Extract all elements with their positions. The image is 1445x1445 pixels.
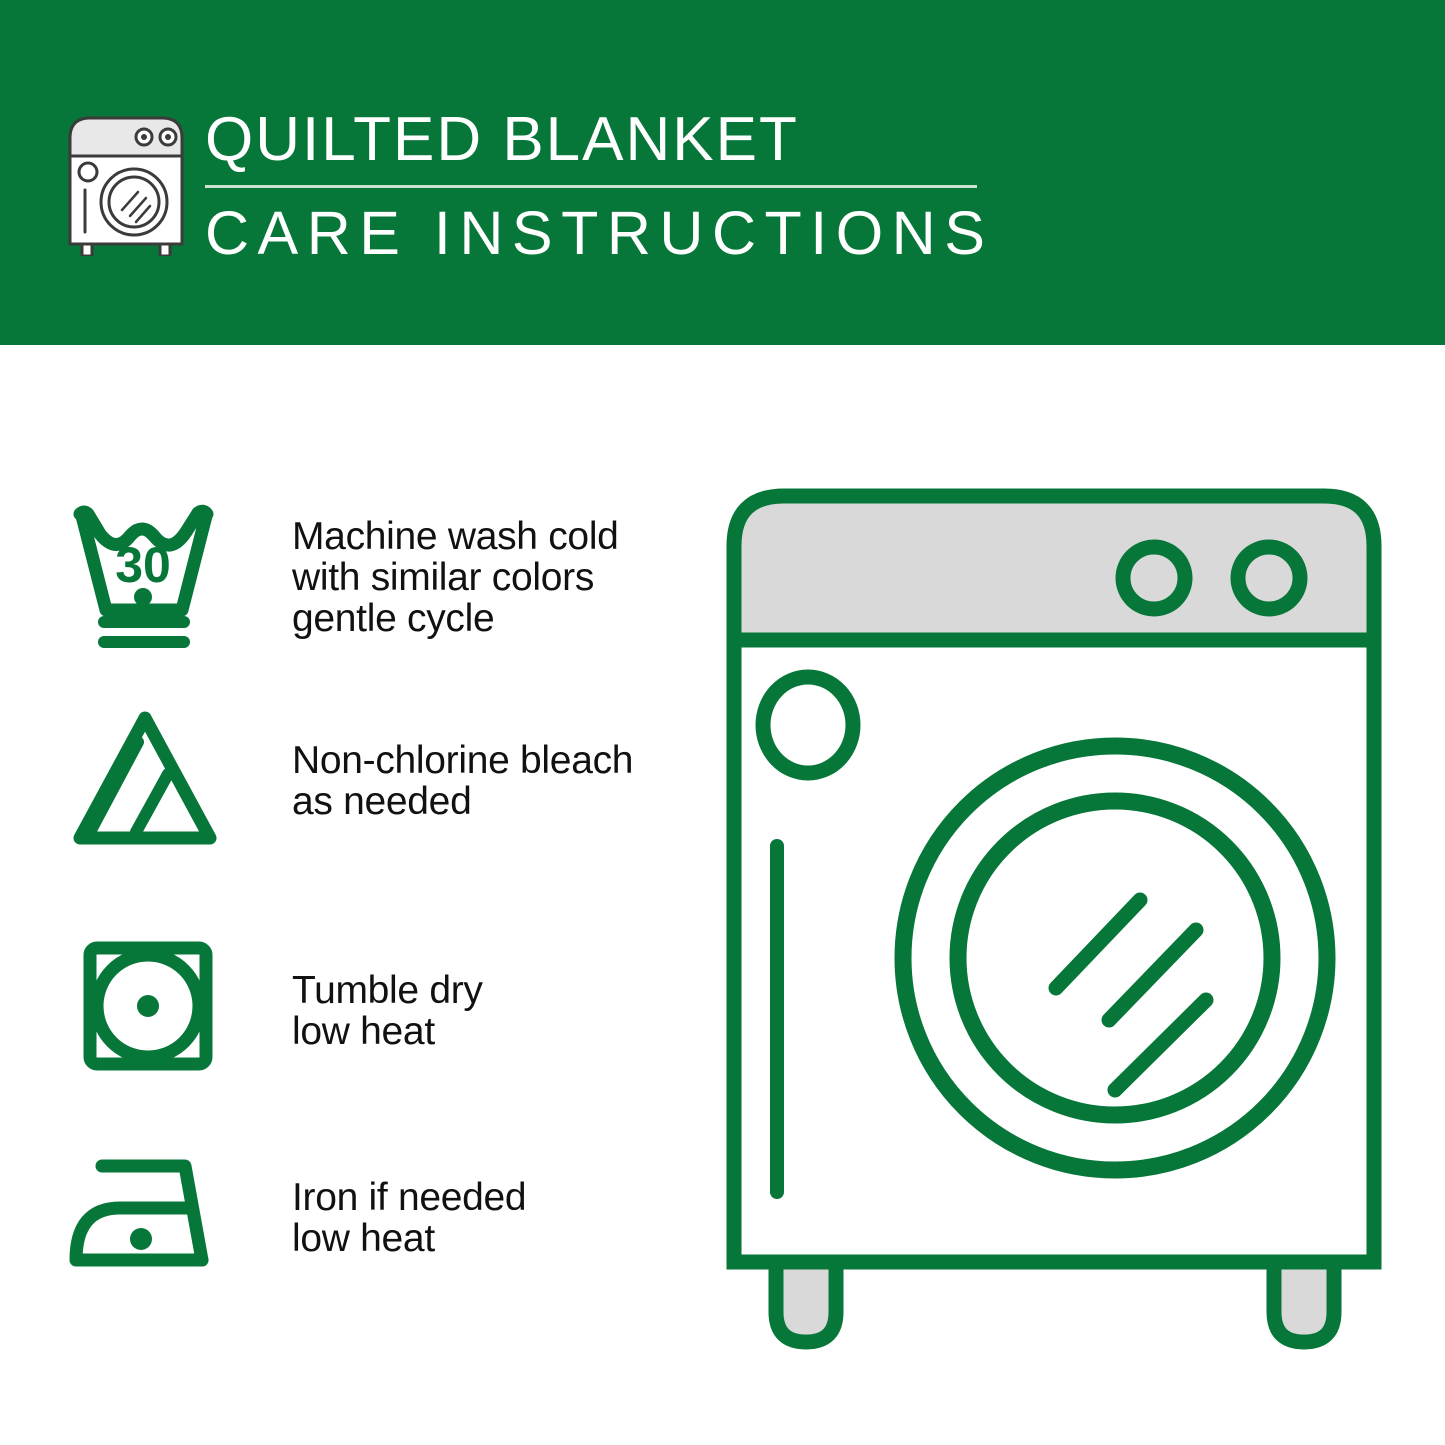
care-text-dry: Tumble dry low heat (292, 970, 483, 1052)
header-banner: QUILTED BLANKET CARE INSTRUCTIONS (0, 0, 1445, 345)
tumble-dry-low-icon (82, 940, 214, 1077)
bleach-triangle-icon (70, 706, 220, 856)
care-text-bleach: Non-chlorine bleach as needed (292, 740, 633, 822)
header-title-block: QUILTED BLANKET CARE INSTRUCTIONS (205, 103, 995, 268)
care-instructions-page: QUILTED BLANKET CARE INSTRUCTIONS 30 Mac… (0, 0, 1445, 1445)
washing-machine-icon (62, 104, 190, 256)
page-title: QUILTED BLANKET (205, 103, 995, 177)
care-row-dry: Tumble dry low heat (0, 940, 700, 1085)
washing-machine-illustration (718, 480, 1390, 1360)
care-row-iron: Iron if needed low heat (0, 1150, 700, 1295)
care-text-iron: Iron if needed low heat (292, 1177, 526, 1259)
title-divider (205, 185, 977, 188)
page-subtitle: CARE INSTRUCTIONS (205, 198, 995, 268)
care-row-wash: 30 Machine wash cold with similar colors… (0, 500, 700, 670)
wash-tub-30-icon: 30 (70, 500, 230, 655)
care-row-bleach: Non-chlorine bleach as needed (0, 706, 700, 856)
iron-low-heat-icon (62, 1150, 237, 1290)
care-text-wash: Machine wash cold with similar colors ge… (292, 516, 619, 639)
svg-text:30: 30 (115, 537, 171, 593)
